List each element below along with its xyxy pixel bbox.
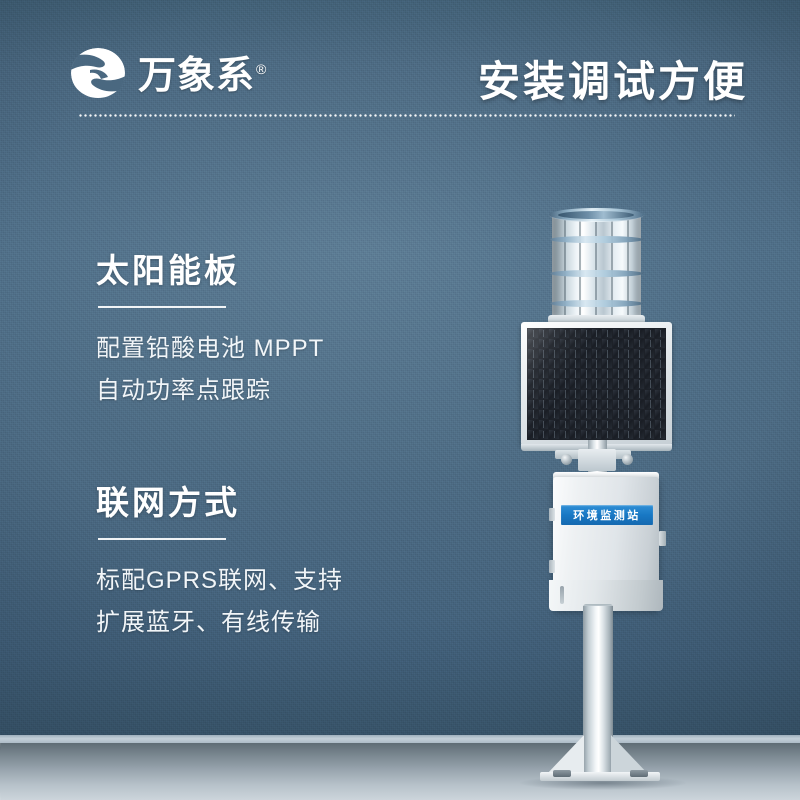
registered-trademark-icon: ® xyxy=(256,61,267,77)
feature-block-solar-panel: 太阳能板 配置铅酸电池 MPPT 自动功率点跟踪 xyxy=(96,253,324,411)
feature-line: 配置铅酸电池 MPPT xyxy=(96,328,324,369)
feature-line: 扩展蓝牙、有线传输 xyxy=(96,602,343,643)
brand-name: 万象系® xyxy=(138,57,267,95)
swirl-globe-logo-icon xyxy=(68,46,128,102)
header-divider xyxy=(78,114,735,117)
feature-divider xyxy=(98,306,226,308)
feature-block-network: 联网方式 标配GPRS联网、支持 扩展蓝牙、有线传输 xyxy=(96,485,343,643)
feature-title: 联网方式 xyxy=(96,485,343,521)
baseboard xyxy=(0,735,800,743)
feature-line: 标配GPRS联网、支持 xyxy=(96,560,343,601)
feature-line: 自动功率点跟踪 xyxy=(96,370,324,411)
floor xyxy=(0,743,800,800)
poster-stage: 万象系® 安装调试方便 太阳能板 配置铅酸电池 MPPT 自动功率点跟踪 联网方… xyxy=(0,0,800,800)
brand-name-text: 万象系 xyxy=(138,55,255,97)
floor-texture xyxy=(0,743,800,800)
feature-title: 太阳能板 xyxy=(96,253,324,289)
brand-logo: 万象系® xyxy=(68,46,267,102)
page-title: 安装调试方便 xyxy=(478,48,748,109)
feature-divider xyxy=(98,538,226,540)
